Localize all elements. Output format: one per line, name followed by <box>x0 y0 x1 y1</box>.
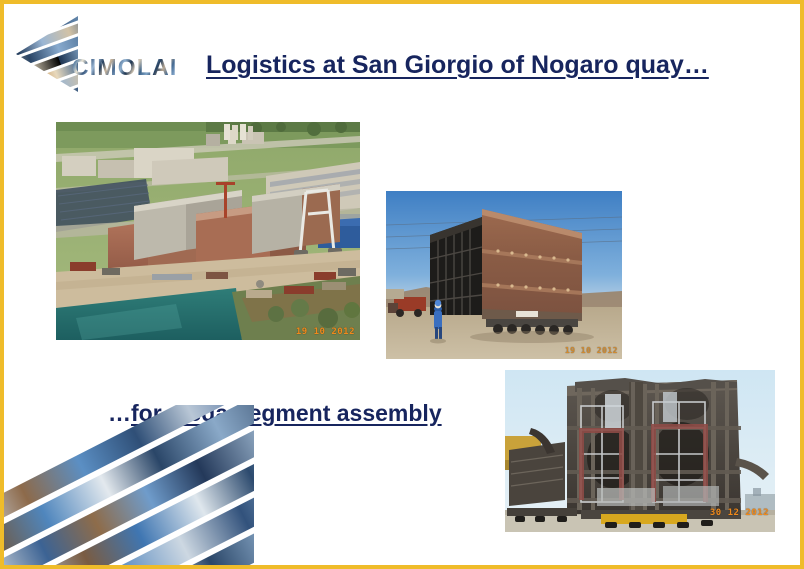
subtitle-ellipsis: … <box>108 400 131 426</box>
mega-segment-transport-photo: 19 10 2012 <box>386 191 622 359</box>
cimolai-wordmark: CIMOLAI <box>72 56 178 79</box>
photo-datestamp: 30 12 2012 <box>710 508 769 518</box>
cimolai-logo: CIMOLAI <box>16 16 196 92</box>
photo-datestamp: 19 10 2012 <box>565 346 618 355</box>
aerial-quay-photo: 19 10 2012 <box>56 122 360 340</box>
cimolai-arrow-photo-mosaic-icon <box>16 16 78 92</box>
diagonal-photo-stripes-decoration <box>4 405 254 565</box>
subtitle-text: for mega-segment assembly <box>131 400 442 426</box>
slide-subtitle: …for mega-segment assembly <box>108 400 442 427</box>
photo-datestamp: 19 10 2012 <box>296 327 355 337</box>
slide-title: Logistics at San Giorgio of Nogaro quay… <box>206 51 709 80</box>
presentation-slide: CIMOLAI Logistics at San Giorgio of Noga… <box>0 0 804 569</box>
mega-segment-assembly-photo: 30 12 2012 <box>505 370 775 532</box>
